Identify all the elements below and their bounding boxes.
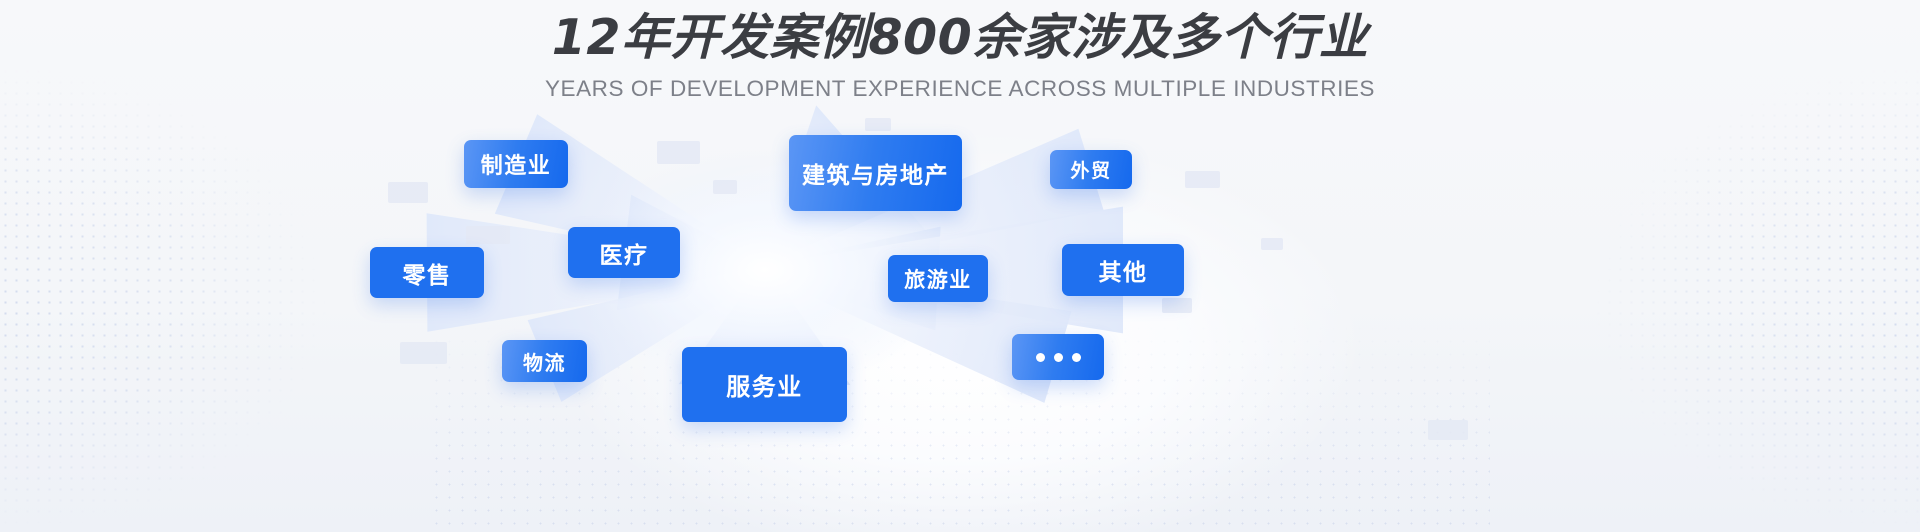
ellipsis-dot-icon bbox=[1054, 353, 1063, 362]
industry-tag-label: 零售 bbox=[403, 256, 452, 290]
industry-tag-manufacturing[interactable]: 制造业 bbox=[464, 140, 568, 188]
banner-heading: 12年开发案例800余家涉及多个行业 YEARS OF DEVELOPMENT … bbox=[0, 8, 1920, 102]
industry-tag-more[interactable] bbox=[1012, 334, 1104, 380]
page-title: 12年开发案例800余家涉及多个行业 bbox=[0, 8, 1920, 68]
industry-tag-label: 外贸 bbox=[1070, 156, 1111, 183]
industry-tag-label: 其他 bbox=[1099, 253, 1148, 287]
industry-tag-label: 制造业 bbox=[481, 148, 552, 180]
background-chip bbox=[1261, 238, 1283, 250]
industry-tag-label: 旅游业 bbox=[904, 264, 972, 294]
industry-tag-retail[interactable]: 零售 bbox=[370, 247, 484, 298]
page-subtitle: YEARS OF DEVELOPMENT EXPERIENCE ACROSS M… bbox=[0, 76, 1920, 102]
ellipsis-dot-icon bbox=[1036, 353, 1045, 362]
background-chip bbox=[466, 226, 510, 244]
industry-tag-other[interactable]: 其他 bbox=[1062, 244, 1184, 296]
industry-tag-label: 物流 bbox=[523, 347, 566, 376]
industry-tag-tourism[interactable]: 旅游业 bbox=[888, 255, 988, 302]
industry-tag-logistics[interactable]: 物流 bbox=[502, 340, 587, 382]
ellipsis-dot-icon bbox=[1072, 353, 1081, 362]
background-chip bbox=[388, 182, 428, 203]
industry-tag-construction[interactable]: 建筑与房地产 bbox=[789, 135, 962, 211]
industry-banner: 12年开发案例800余家涉及多个行业 YEARS OF DEVELOPMENT … bbox=[0, 0, 1920, 532]
industry-tag-label: 建筑与房地产 bbox=[802, 156, 949, 190]
background-chip bbox=[1428, 420, 1468, 440]
background-chip bbox=[1162, 298, 1192, 313]
background-chip bbox=[657, 141, 700, 164]
industry-tag-foreign-trade[interactable]: 外贸 bbox=[1050, 150, 1132, 189]
industry-tag-label: 医疗 bbox=[600, 236, 649, 270]
industry-tag-label: 服务业 bbox=[726, 367, 803, 402]
background-chip bbox=[400, 342, 447, 364]
background-chip bbox=[865, 118, 891, 131]
industry-tag-healthcare[interactable]: 医疗 bbox=[568, 227, 680, 278]
halftone-dots-bottom bbox=[430, 322, 1490, 532]
background-chip bbox=[1185, 171, 1220, 188]
industry-tag-service[interactable]: 服务业 bbox=[682, 347, 847, 422]
background-chip bbox=[713, 180, 737, 194]
